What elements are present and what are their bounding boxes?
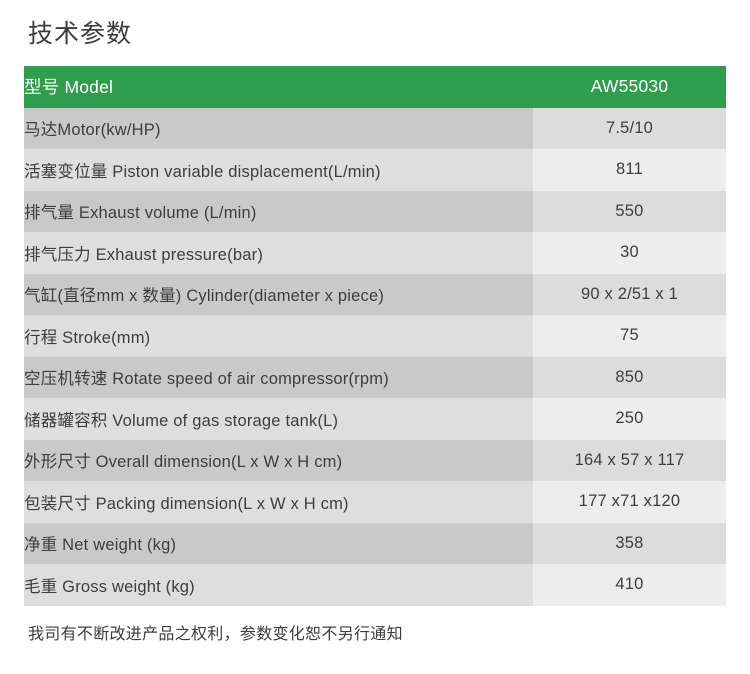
row-label: 毛重 Gross weight (kg) [24, 564, 533, 606]
table-row: 排气量 Exhaust volume (L/min) 550 [24, 191, 726, 233]
row-label: 排气量 Exhaust volume (L/min) [24, 191, 533, 233]
row-label: 净重 Net weight (kg) [24, 523, 533, 565]
table-header-row: 型号 Model AW55030 [24, 66, 726, 108]
row-value: 250 [533, 398, 726, 440]
table-row: 空压机转速 Rotate speed of air compressor(rpm… [24, 357, 726, 399]
row-label: 外形尺寸 Overall dimension(L x W x H cm) [24, 440, 533, 482]
table-row: 包装尺寸 Packing dimension(L x W x H cm) 177… [24, 481, 726, 523]
row-label: 空压机转速 Rotate speed of air compressor(rpm… [24, 357, 533, 399]
row-label: 储器罐容积 Volume of gas storage tank(L) [24, 398, 533, 440]
table-row: 毛重 Gross weight (kg) 410 [24, 564, 726, 606]
table-row: 气缸(直径mm x 数量) Cylinder(diameter x piece)… [24, 274, 726, 316]
row-label: 马达Motor(kw/HP) [24, 108, 533, 150]
row-value: 75 [533, 315, 726, 357]
row-value: 90 x 2/51 x 1 [533, 274, 726, 316]
row-value: 358 [533, 523, 726, 565]
specifications-table: 型号 Model AW55030 马达Motor(kw/HP) 7.5/10 活… [24, 66, 726, 606]
table-row: 净重 Net weight (kg) 358 [24, 523, 726, 565]
table-row: 储器罐容积 Volume of gas storage tank(L) 250 [24, 398, 726, 440]
row-label: 活塞变位量 Piston variable displacement(L/min… [24, 149, 533, 191]
row-value: 177 x71 x120 [533, 481, 726, 523]
footnote-text: 我司有不断改进产品之权利，参数变化恕不另行通知 [24, 606, 726, 644]
page-title: 技术参数 [24, 0, 726, 66]
table-body: 型号 Model AW55030 马达Motor(kw/HP) 7.5/10 活… [24, 66, 726, 606]
row-label: 行程 Stroke(mm) [24, 315, 533, 357]
table-row: 马达Motor(kw/HP) 7.5/10 [24, 108, 726, 150]
header-model-label: 型号 Model [24, 66, 533, 108]
row-value: 164 x 57 x 117 [533, 440, 726, 482]
table-row: 活塞变位量 Piston variable displacement(L/min… [24, 149, 726, 191]
table-row: 外形尺寸 Overall dimension(L x W x H cm) 164… [24, 440, 726, 482]
row-value: 811 [533, 149, 726, 191]
row-label: 气缸(直径mm x 数量) Cylinder(diameter x piece) [24, 274, 533, 316]
table-row: 行程 Stroke(mm) 75 [24, 315, 726, 357]
spec-sheet-page: 技术参数 型号 Model AW55030 马达Motor(kw/HP) 7.5… [0, 0, 750, 674]
row-value: 30 [533, 232, 726, 274]
row-value: 550 [533, 191, 726, 233]
row-label: 排气压力 Exhaust pressure(bar) [24, 232, 533, 274]
header-model-value: AW55030 [533, 66, 726, 108]
row-label: 包装尺寸 Packing dimension(L x W x H cm) [24, 481, 533, 523]
row-value: 410 [533, 564, 726, 606]
table-row: 排气压力 Exhaust pressure(bar) 30 [24, 232, 726, 274]
row-value: 7.5/10 [533, 108, 726, 150]
row-value: 850 [533, 357, 726, 399]
